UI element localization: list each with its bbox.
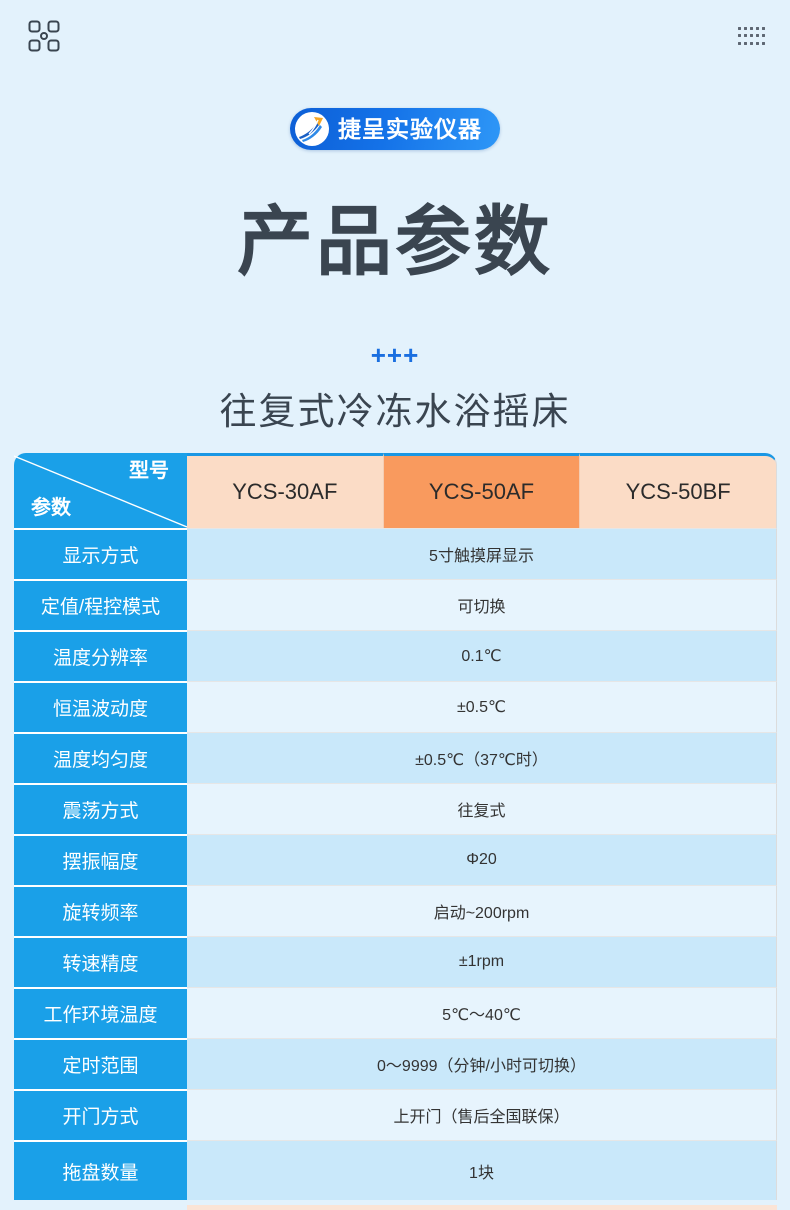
row-value-oscillation-type: 往复式 [187,783,777,834]
row-value-speed-accuracy: ±1rpm [187,936,777,987]
table-header-row: 型号 参数 YCS-30AF YCS-50AF YCS-50BF [14,453,777,528]
spec-table: 型号 参数 YCS-30AF YCS-50AF YCS-50BF 显示方式 5寸… [14,453,777,1200]
row-label-speed-accuracy: 转速精度 [14,936,187,987]
row-label-oscillation-type: 震荡方式 [14,783,187,834]
corner-diagonal-cell: 型号 参数 [14,453,187,528]
brand-banner: 捷呈实验仪器 [0,108,790,151]
row-value-temp-fluctuation: ±0.5℃ [187,681,777,732]
table-row: 恒温波动度 ±0.5℃ [14,681,777,732]
row-label-temp-fluctuation: 恒温波动度 [14,681,187,732]
row-value-door-type: 上开门（售后全国联保） [187,1089,777,1140]
row-label-temp-resolution: 温度分辨率 [14,630,187,681]
table-row: 震荡方式 往复式 [14,783,777,834]
table-row: 温度分辨率 0.1℃ [14,630,777,681]
row-label-tray-count: 拖盘数量 [14,1140,187,1200]
row-value-amplitude: Φ20 [187,834,777,885]
brand-name: 捷呈实验仪器 [338,118,482,141]
row-label-display-mode: 显示方式 [14,528,187,579]
plus-decoration: +++ [0,342,790,368]
row-label-control-mode: 定值/程控模式 [14,579,187,630]
table-row: 定时范围 0～9999（分钟/小时可切换） [14,1038,777,1089]
page-title: 产品参数 [0,205,790,281]
table-bottom-edge [187,1205,777,1210]
row-value-timer-range: 0～9999（分钟/小时可切换） [187,1038,777,1089]
table-row: 转速精度 ±1rpm [14,936,777,987]
row-label-door-type: 开门方式 [14,1089,187,1140]
row-value-temp-uniformity: ±0.5℃（37℃时） [187,732,777,783]
table-body: 显示方式 5寸触摸屏显示 定值/程控模式 可切换 温度分辨率 0.1℃ 恒温波动… [14,528,777,1200]
row-label-ambient-temp: 工作环境温度 [14,987,187,1038]
table-row: 拖盘数量 1块 [14,1140,777,1200]
model-header-ycs-30af[interactable]: YCS-30AF [187,453,384,528]
table-row: 开门方式 上开门（售后全国联保） [14,1089,777,1140]
model-header-ycs-50af[interactable]: YCS-50AF [384,453,581,528]
corner-param-label: 参数 [31,498,71,518]
row-value-display-mode: 5寸触摸屏显示 [187,528,777,579]
topbar [0,0,790,72]
brand-emblem-icon [295,112,329,146]
table-row: 显示方式 5寸触摸屏显示 [14,528,777,579]
row-value-ambient-temp: 5℃～40℃ [187,987,777,1038]
row-value-tray-count: 1块 [187,1140,777,1200]
model-header-ycs-50bf[interactable]: YCS-50BF [580,453,777,528]
row-value-rotation-frequency: 启动~200rpm [187,885,777,936]
dots-grid-icon[interactable] [737,26,765,46]
apps-grid-icon[interactable] [28,20,60,52]
corner-model-label: 型号 [129,461,169,481]
row-label-temp-uniformity: 温度均匀度 [14,732,187,783]
row-label-timer-range: 定时范围 [14,1038,187,1089]
table-row: 定值/程控模式 可切换 [14,579,777,630]
row-label-amplitude: 摆振幅度 [14,834,187,885]
table-row: 温度均匀度 ±0.5℃（37℃时） [14,732,777,783]
brand-badge: 捷呈实验仪器 [290,108,500,150]
table-row: 工作环境温度 5℃～40℃ [14,987,777,1038]
page-subtitle: 往复式冷冻水浴摇床 [0,390,790,434]
table-row: 摆振幅度 Φ20 [14,834,777,885]
row-value-temp-resolution: 0.1℃ [187,630,777,681]
row-label-rotation-frequency: 旋转频率 [14,885,187,936]
row-value-control-mode: 可切换 [187,579,777,630]
table-row: 旋转频率 启动~200rpm [14,885,777,936]
